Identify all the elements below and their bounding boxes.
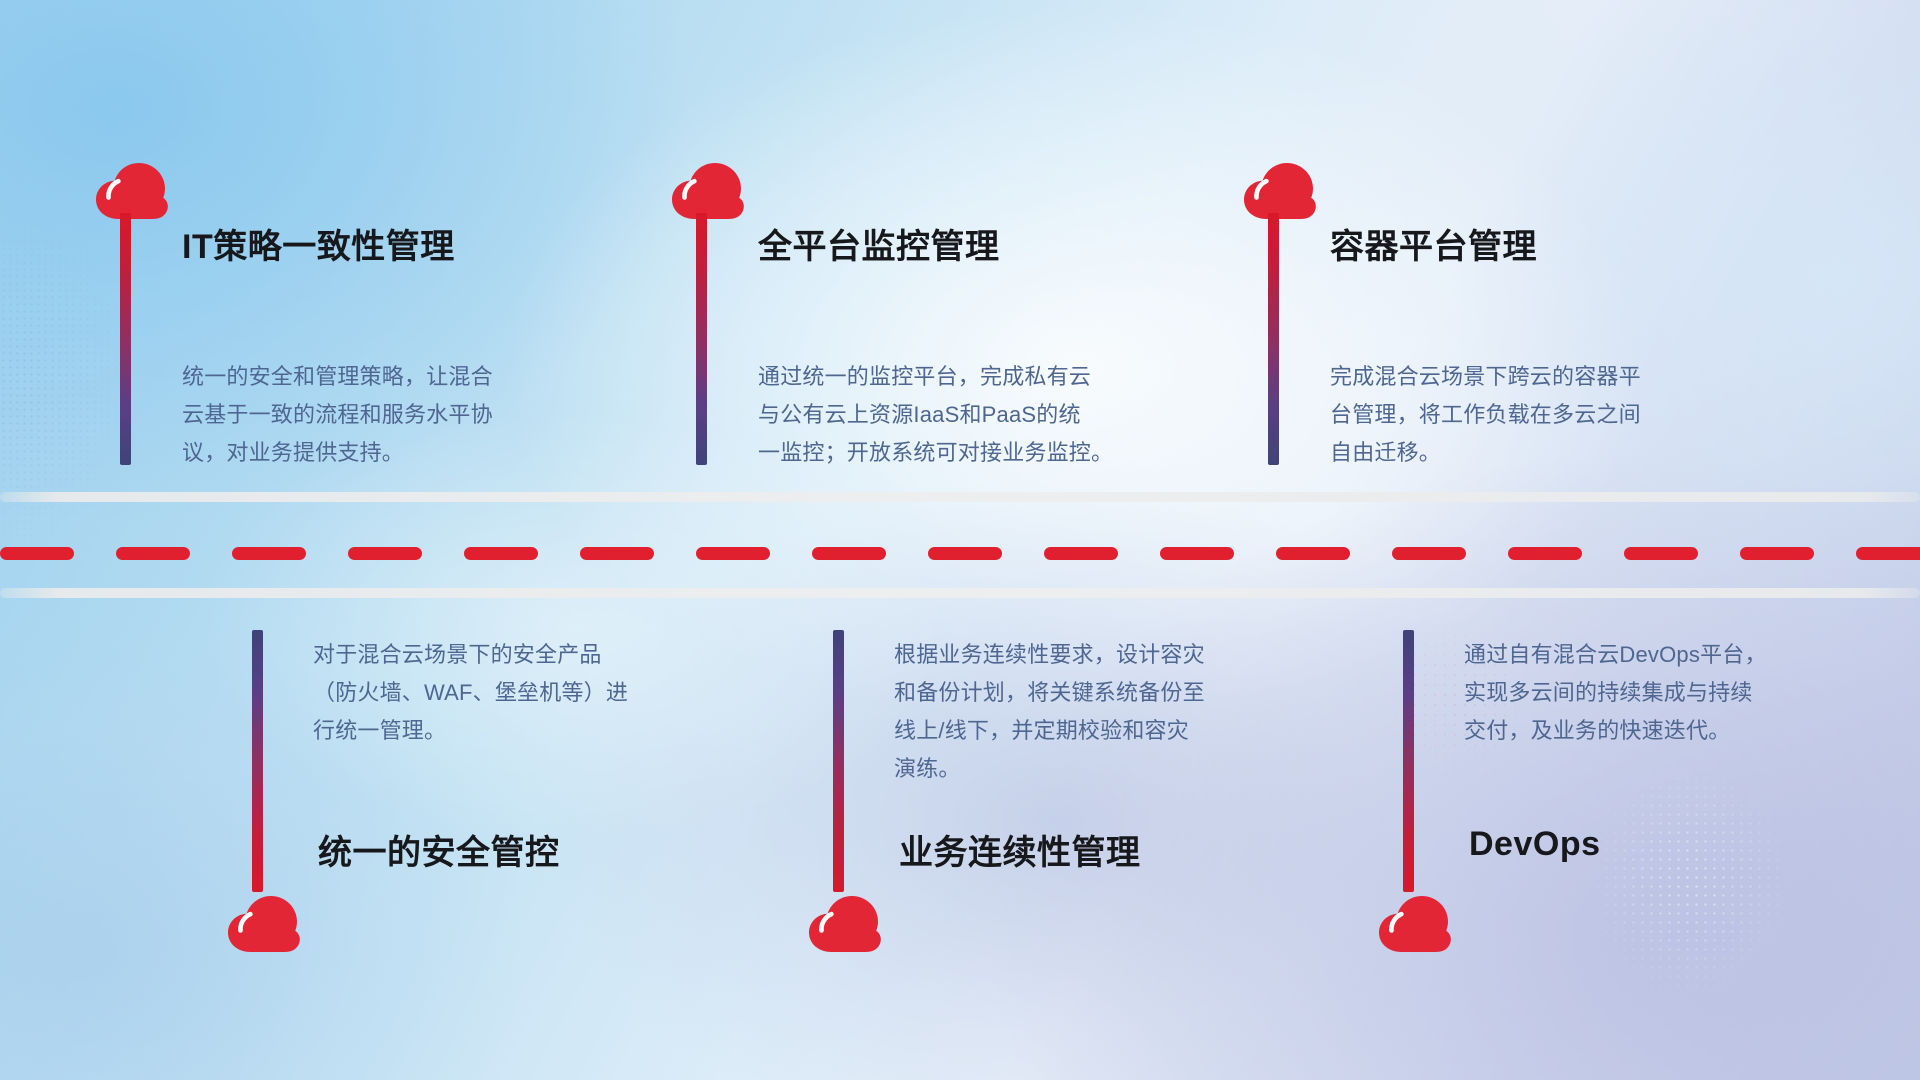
top-body-2: 通过统一的监控平台，完成私有云 与公有云上资源IaaS和PaaS的统 一监控；开… <box>758 358 1228 472</box>
cloud-icon <box>671 162 745 220</box>
stem-bar <box>1403 630 1414 892</box>
road-dash-segment <box>116 547 190 560</box>
infographic-canvas: IT策略一致性管理 统一的安全和管理策略，让混合 云基于一致的流程和服务水平协 … <box>0 0 1920 1080</box>
stem-bar <box>1268 213 1279 465</box>
bottom-heading-3: DevOps <box>1469 825 1601 864</box>
cloud-icon <box>227 895 301 953</box>
stem-bar <box>833 630 844 892</box>
road-dash-segment <box>0 547 74 560</box>
road-dash-segment <box>464 547 538 560</box>
stem-bar <box>252 630 263 892</box>
road-dash-segment <box>1392 547 1466 560</box>
road-dash-segment <box>1160 547 1234 560</box>
road-dash-segment <box>1508 547 1582 560</box>
road-rail-bottom <box>0 588 1920 598</box>
bottom-body-3: 通过自有混合云DevOps平台， 实现多云间的持续集成与持续 交付，及业务的快速… <box>1464 636 1914 750</box>
road-dash-segment <box>1740 547 1814 560</box>
road-dash-segment <box>232 547 306 560</box>
cloud-icon <box>808 895 882 953</box>
top-heading-2: 全平台监控管理 <box>758 219 1000 268</box>
road-dash-segment <box>1044 547 1118 560</box>
cloud-icon <box>95 162 169 220</box>
road-dash-segment <box>1624 547 1698 560</box>
cloud-icon <box>1378 895 1452 953</box>
road-dash-segment <box>580 547 654 560</box>
bottom-body-2: 根据业务连续性要求，设计容灾 和备份计划，将关键系统备份至 线上/线下，并定期校… <box>894 636 1344 788</box>
stem-bar <box>120 213 131 465</box>
road-dash-segment <box>812 547 886 560</box>
stem-bar <box>696 213 707 465</box>
top-heading-3: 容器平台管理 <box>1330 219 1537 268</box>
road-rail-top <box>0 492 1920 502</box>
top-body-3: 完成混合云场景下跨云的容器平 台管理，将工作负载在多云之间 自由迁移。 <box>1330 358 1770 472</box>
road-dash-segment <box>1276 547 1350 560</box>
road-dash-segment <box>928 547 1002 560</box>
cloud-icon <box>1243 162 1317 220</box>
road-dash-segment <box>348 547 422 560</box>
road-dash-segment <box>696 547 770 560</box>
bottom-heading-2: 业务连续性管理 <box>899 825 1141 874</box>
road-dash-segment <box>1856 547 1920 560</box>
bottom-heading-1: 统一的安全管控 <box>318 825 560 874</box>
top-heading-1: IT策略一致性管理 <box>182 219 455 268</box>
bottom-body-1: 对于混合云场景下的安全产品 （防火墙、WAF、堡垒机等）进 行统一管理。 <box>313 636 763 750</box>
road-dashed-centerline <box>0 547 1920 560</box>
top-body-1: 统一的安全和管理策略，让混合 云基于一致的流程和服务水平协 议，对业务提供支持。 <box>182 358 622 472</box>
